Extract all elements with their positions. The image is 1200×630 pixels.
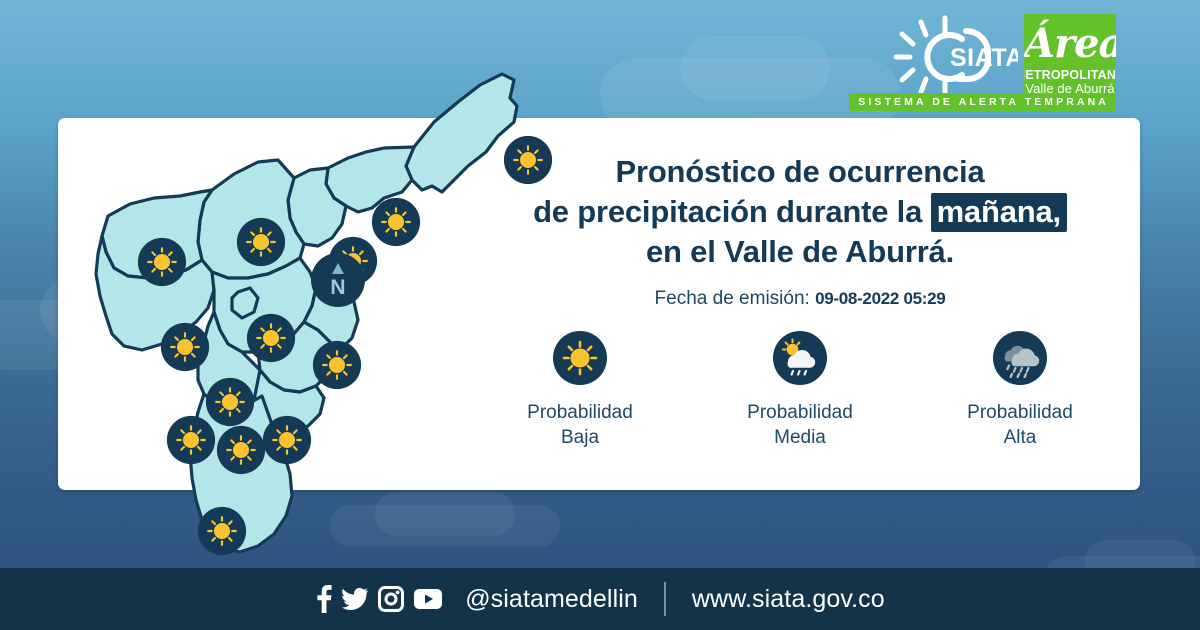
sun-rain-icon: [772, 330, 828, 386]
title-line-3: en el Valle de Aburrá.: [460, 232, 1140, 272]
headline-block: Pronóstico de ocurrencia de precipitació…: [460, 152, 1140, 310]
legend-label-line1: Probabilidad: [920, 400, 1120, 425]
probability-legend: Probabilidad Baja: [470, 330, 1130, 450]
footer-divider: [664, 582, 666, 616]
twitter-icon[interactable]: [341, 585, 369, 613]
emission-date: Fecha de emisión: 09-08-2022 05:29: [460, 288, 1140, 310]
legend-label-line1: Probabilidad: [700, 400, 900, 425]
cloud-shape: [680, 36, 830, 100]
map-marker-sun-icon: [137, 237, 187, 287]
area-metropolitana-logo: Área METROPOLITANA Valle de Aburrá: [1024, 14, 1116, 100]
footer-content: @siatamedellin www.siata.gov.co: [315, 582, 885, 616]
map-marker-sun-icon: [236, 217, 286, 267]
legend-label-line2: Media: [700, 425, 900, 450]
footer-bar: @siatamedellin www.siata.gov.co: [0, 568, 1200, 630]
map-marker-sun-icon: [197, 506, 247, 556]
title-highlight: mañana,: [931, 193, 1067, 232]
youtube-icon[interactable]: [413, 588, 443, 610]
page-title: Pronóstico de ocurrencia de precipitació…: [460, 152, 1140, 272]
legend-item-media: Probabilidad Media: [700, 330, 900, 450]
area-logo-script: Área: [1024, 16, 1116, 72]
emission-value: 09-08-2022 05:29: [815, 289, 945, 308]
compass-label: N: [330, 276, 345, 299]
map-marker-sun-icon: [312, 340, 362, 390]
valle-de-aburra-map: [62, 40, 532, 580]
legend-label-line2: Baja: [480, 425, 680, 450]
instagram-icon[interactable]: [378, 586, 404, 612]
facebook-icon[interactable]: [315, 585, 332, 613]
map-marker-sun-icon: [166, 415, 216, 465]
legend-item-alta: Probabilidad Alta: [920, 330, 1120, 450]
legend-item-baja: Probabilidad Baja: [480, 330, 680, 450]
title-line-2-prefix: de precipitación durante la: [533, 194, 931, 229]
map-marker-sun-icon: [371, 197, 421, 247]
siata-logo: SIATA: [888, 14, 1018, 100]
map-marker-sun-icon: [160, 322, 210, 372]
legend-label: Probabilidad Baja: [480, 400, 680, 450]
website-url[interactable]: www.siata.gov.co: [692, 585, 885, 614]
map-marker-sun-icon: [262, 415, 312, 465]
area-logo-line2: Valle de Aburrá: [1025, 82, 1114, 96]
title-line-1: Pronóstico de ocurrencia: [460, 152, 1140, 192]
map-marker-sun-icon: [216, 425, 266, 475]
compass-rose: N: [310, 252, 366, 308]
infographic-canvas: SIATA Área METROPOLITANA Valle de Aburrá…: [0, 0, 1200, 630]
social-handle[interactable]: @siatamedellin: [465, 585, 638, 614]
legend-label-line2: Alta: [920, 425, 1120, 450]
map-marker-sun-icon: [246, 313, 296, 363]
logo-group: SIATA Área METROPOLITANA Valle de Aburrá: [888, 14, 1116, 100]
title-line-2: de precipitación durante la mañana,: [460, 192, 1140, 232]
emission-label: Fecha de emisión:: [655, 288, 810, 309]
legend-label: Probabilidad Alta: [920, 400, 1120, 450]
legend-label: Probabilidad Media: [700, 400, 900, 450]
social-icons: [315, 585, 443, 613]
legend-label-line1: Probabilidad: [480, 400, 680, 425]
cloud-rain-icon: [992, 330, 1048, 386]
svg-text:SIATA: SIATA: [950, 44, 1018, 72]
sun-icon: [552, 330, 608, 386]
